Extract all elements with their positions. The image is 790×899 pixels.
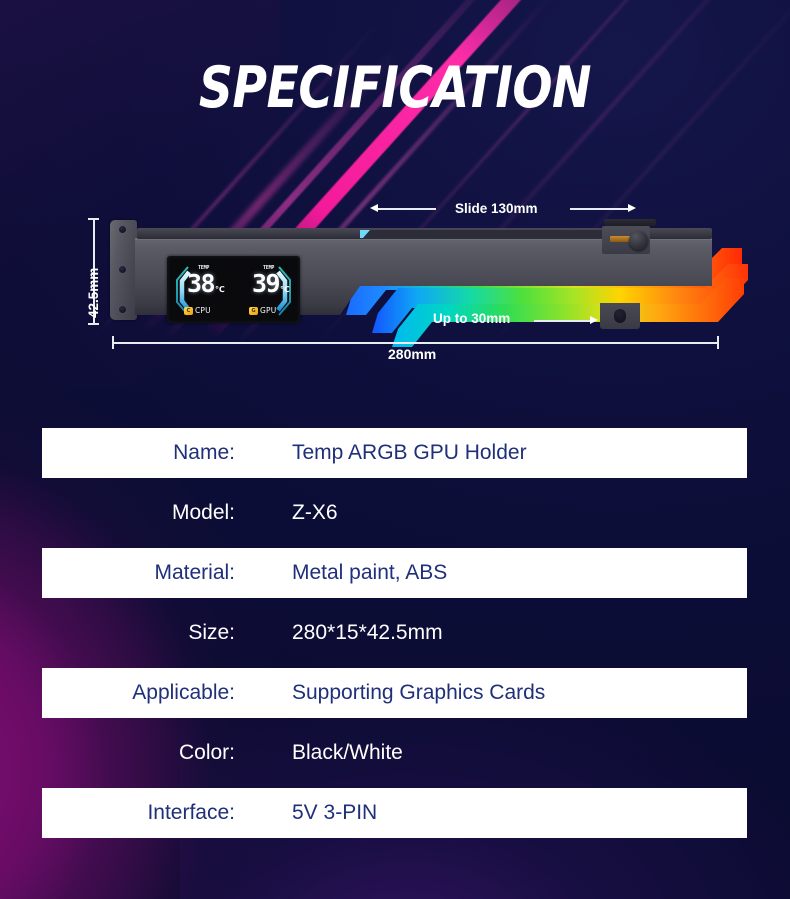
- specification-table: Name: Temp ARGB GPU Holder Model: Z-X6 M…: [0, 428, 790, 838]
- slide-line-left: [378, 208, 436, 210]
- spec-value-name: Temp ARGB GPU Holder: [235, 441, 527, 465]
- spec-label-material: Material:: [42, 561, 235, 585]
- row-gap: [0, 478, 790, 488]
- row-gap: [0, 538, 790, 548]
- length-tick-left: [112, 336, 114, 349]
- slide-arrow-right-icon: [628, 204, 636, 212]
- row-gap: [0, 658, 790, 668]
- clearance-line: [534, 320, 590, 322]
- height-tick-bottom: [88, 323, 99, 325]
- table-row: Applicable: Supporting Graphics Cards: [42, 668, 747, 718]
- height-tick-top: [88, 218, 99, 220]
- length-dimension-label: 280mm: [388, 346, 436, 362]
- table-row: Material: Metal paint, ABS: [42, 548, 747, 598]
- page-title: SPECIFICATION: [32, 55, 759, 121]
- table-row: Name: Temp ARGB GPU Holder: [42, 428, 747, 478]
- row-gap: [0, 718, 790, 728]
- spec-label-applicable: Applicable:: [42, 681, 235, 705]
- table-row: Interface: 5V 3-PIN: [42, 788, 747, 838]
- row-gap: [0, 778, 790, 788]
- slide-dimension-label: Slide 130mm: [455, 201, 538, 216]
- spec-value-model: Z-X6: [235, 501, 338, 525]
- spec-label-interface: Interface:: [42, 801, 235, 825]
- table-row: Color: Black/White: [42, 728, 747, 778]
- table-row: Size: 280*15*42.5mm: [42, 608, 747, 658]
- spec-value-size: 280*15*42.5mm: [235, 621, 443, 645]
- height-dimension-label: 42.5mm: [86, 268, 101, 318]
- slide-line-right: [570, 208, 628, 210]
- dimension-annotations: Slide 130mm 42.5mm Up to 30mm 280mm: [0, 190, 790, 375]
- spec-value-applicable: Supporting Graphics Cards: [235, 681, 545, 705]
- clearance-dimension-label: Up to 30mm: [433, 311, 510, 326]
- clearance-arrow-icon: [590, 316, 598, 324]
- spec-label-name: Name:: [42, 441, 235, 465]
- spec-label-model: Model:: [42, 501, 235, 525]
- spec-label-color: Color:: [42, 741, 235, 765]
- spec-value-material: Metal paint, ABS: [235, 561, 447, 585]
- spec-value-color: Black/White: [235, 741, 403, 765]
- spec-value-interface: 5V 3-PIN: [235, 801, 377, 825]
- spec-label-size: Size:: [42, 621, 235, 645]
- length-tick-right: [717, 336, 719, 349]
- slide-arrow-left-icon: [370, 204, 378, 212]
- length-line: [112, 342, 719, 344]
- row-gap: [0, 598, 790, 608]
- table-row: Model: Z-X6: [42, 488, 747, 538]
